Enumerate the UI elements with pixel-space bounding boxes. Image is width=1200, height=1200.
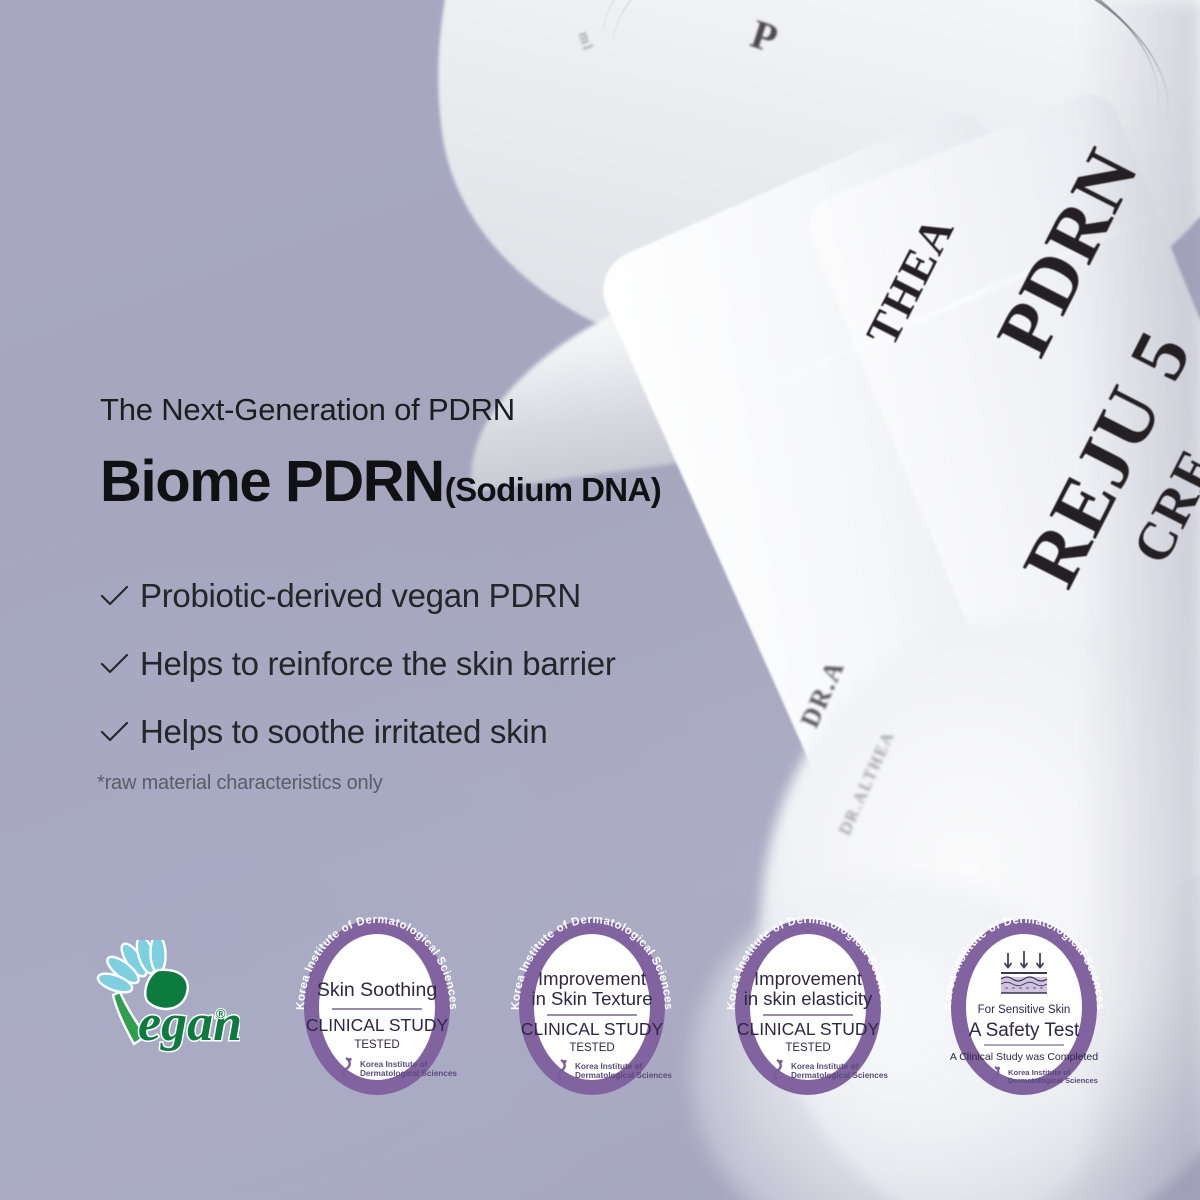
badge-credit-line1: Korea Institute of — [575, 1062, 643, 1071]
headline-main: Biome PDRN — [100, 448, 444, 515]
check-icon — [100, 653, 134, 675]
check-icon — [100, 585, 134, 607]
list-item: Helps to soothe irritated skin — [100, 698, 616, 766]
badge-sub-main: CLINICAL STUDY — [737, 1019, 880, 1039]
badge-credit-line2: Dermatological Sciences — [1008, 1076, 1098, 1085]
badge-credit-line2: Dermatological Sciences — [360, 1069, 457, 1078]
badge-credit-line1: Korea Institute of — [791, 1062, 859, 1071]
marketing-content: The Next-Generation of PDRN Biome PDRN (… — [0, 0, 1200, 1200]
badge-credit-line1: Korea Institute of — [360, 1060, 428, 1069]
badge-credit-line2: Dermatological Sciences — [575, 1071, 672, 1080]
badge-sub-small: A Clinical Study was Completed — [950, 1051, 1098, 1063]
badge-title-line: in Skin Texture — [532, 988, 653, 1009]
list-item: Helps to reinforce the skin barrier — [100, 630, 616, 698]
badge-skin-texture: Korea Institute of Dermatological Scienc… — [497, 915, 687, 1100]
certification-badge-row: Korea Institute of Dermatological Scienc… — [0, 915, 1200, 1105]
badge-safety-test: Korea Institute of Dermatological Scienc… — [929, 915, 1119, 1100]
footnote: *raw material characteristics only — [97, 772, 383, 795]
badge-sub-small: TESTED — [569, 1042, 614, 1054]
headline-sub: (Sodium DNA) — [445, 471, 661, 509]
list-item-label: Helps to soothe irritated skin — [140, 713, 547, 751]
badge-title-line: For Sensitive Skin — [978, 1004, 1071, 1016]
badge-credit-line2: Dermatological Sciences — [791, 1071, 888, 1080]
badge-sub-small: TESTED — [354, 1039, 399, 1051]
badge-title-line: Improvement — [538, 968, 646, 989]
page-title: Biome PDRN (Sodium DNA) — [100, 448, 661, 515]
badge-sub-main: A Safety Test — [969, 1020, 1080, 1041]
badge-skin-elasticity: Korea Institute of Dermatological Scienc… — [713, 915, 903, 1100]
badge-title-line: Skin Soothing — [317, 979, 437, 1001]
badge-skin-soothing: Korea Institute of Dermatological Scienc… — [282, 915, 472, 1100]
badge-title-line: in skin elasticity — [744, 988, 873, 1009]
list-item: Probiotic-derived vegan PDRN — [100, 562, 616, 630]
check-icon — [100, 721, 134, 743]
list-item-label: Helps to reinforce the skin barrier — [140, 645, 616, 683]
tagline: The Next-Generation of PDRN — [100, 392, 515, 428]
badge-sub-main: CLINICAL STUDY — [521, 1019, 664, 1039]
badge-sub-small: TESTED — [785, 1042, 830, 1054]
benefit-list: Probiotic-derived vegan PDRN Helps to re… — [100, 562, 616, 766]
list-item-label: Probiotic-derived vegan PDRN — [140, 577, 581, 615]
badge-title-line: Improvement — [754, 968, 862, 989]
badge-sub-main: CLINICAL STUDY — [306, 1015, 449, 1035]
